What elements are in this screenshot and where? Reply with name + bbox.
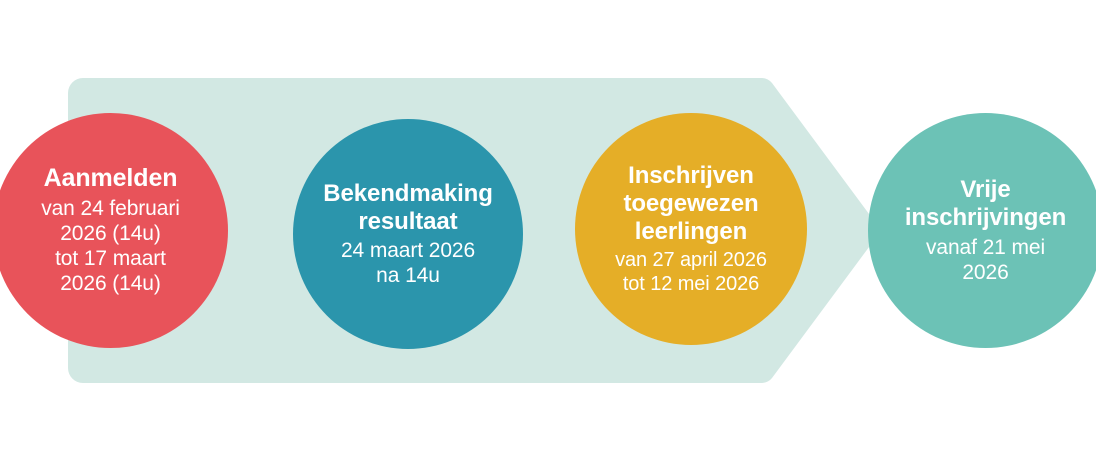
enrollment-timeline-diagram: Aanmelden van 24 februari 2026 (14u) tot…	[0, 0, 1096, 459]
stage-detail: van 24 februari 2026 (14u) tot 17 maart …	[41, 196, 180, 297]
stage-detail: vanaf 21 mei 2026	[926, 235, 1045, 285]
stage-title: Aanmelden	[44, 164, 178, 194]
stage-title: Inschrijven toegewezen leerlingen	[623, 162, 758, 247]
stage-detail: van 27 april 2026 tot 12 mei 2026	[615, 248, 767, 296]
stage-circle-inschrijven-toegewezen-leerlingen: Inschrijven toegewezen leerlingen van 27…	[575, 113, 807, 345]
stage-circle-vrije-inschrijvingen: Vrije inschrijvingen vanaf 21 mei 2026	[868, 113, 1096, 348]
stage-detail: 24 maart 2026 na 14u	[341, 238, 475, 288]
stage-circle-bekendmaking-resultaat: Bekendmaking resultaat 24 maart 2026 na …	[293, 119, 523, 349]
stage-title: Bekendmaking resultaat	[323, 180, 493, 237]
stage-circle-aanmelden: Aanmelden van 24 februari 2026 (14u) tot…	[0, 113, 228, 348]
stage-title: Vrije inschrijvingen	[905, 176, 1066, 233]
